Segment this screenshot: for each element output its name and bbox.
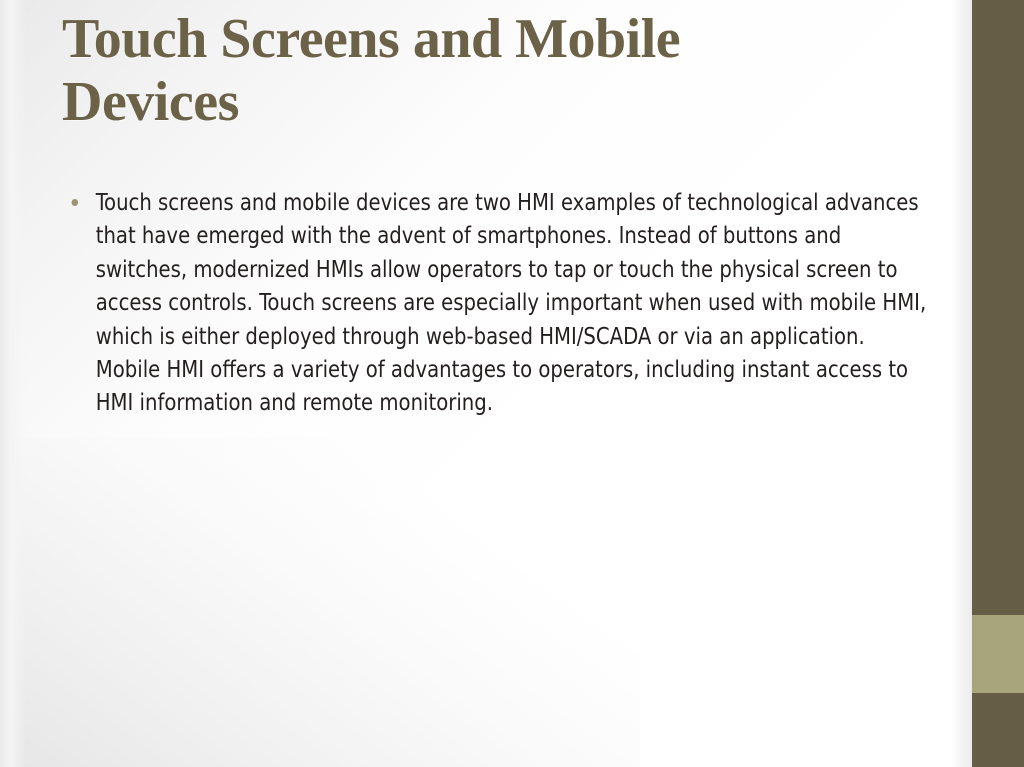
slide-content-area: Touch Screens and Mobile Devices Touch s… [0, 0, 930, 767]
slide-body-bullet-list: Touch screens and mobile devices are two… [66, 186, 902, 420]
sidebar-bar-upper [972, 0, 1024, 615]
decorative-right-sidebar [951, 0, 1024, 767]
sidebar-bar-lower [972, 693, 1024, 767]
bullet-dot-icon [72, 199, 79, 206]
sidebar-bar-accent [972, 615, 1024, 693]
list-item: Touch screens and mobile devices are two… [66, 186, 933, 420]
sidebar-gutter [951, 0, 972, 767]
bullet-text: Touch screens and mobile devices are two… [96, 186, 933, 420]
presentation-slide: Touch Screens and Mobile Devices Touch s… [0, 0, 1024, 767]
slide-title: Touch Screens and Mobile Devices [62, 8, 852, 135]
